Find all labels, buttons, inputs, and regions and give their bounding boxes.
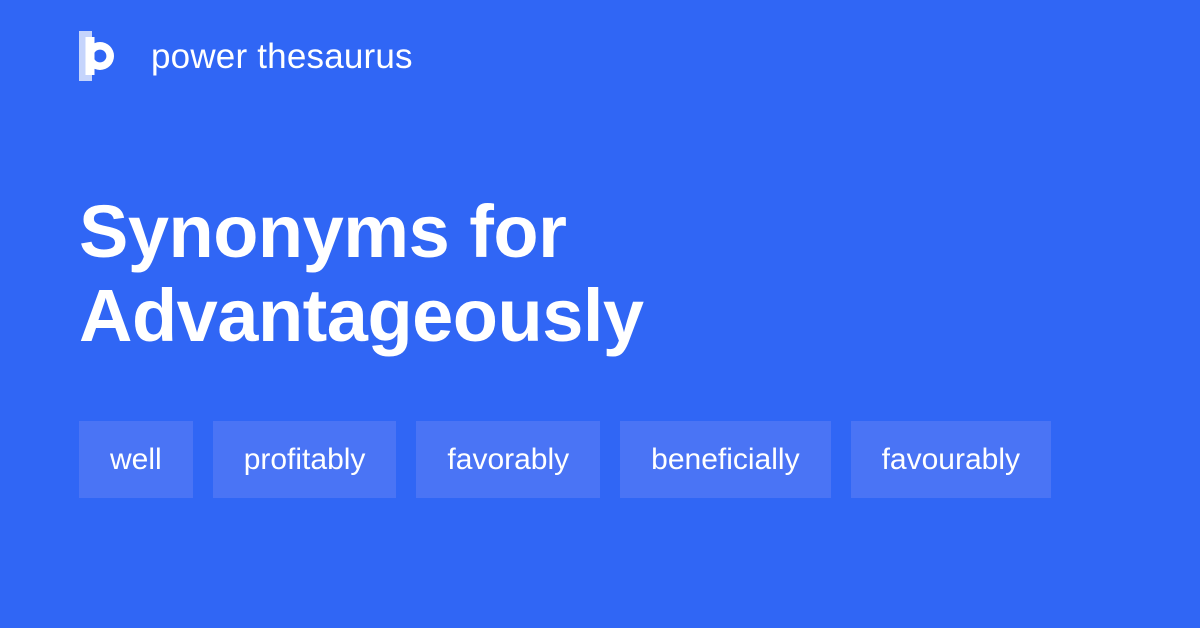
- synonym-chip[interactable]: favorably: [416, 421, 600, 498]
- synonym-chip[interactable]: profitably: [213, 421, 397, 498]
- synonym-chip[interactable]: favourably: [851, 421, 1051, 498]
- page-title-line-2: Advantageously: [79, 274, 1119, 358]
- synonym-chip[interactable]: beneficially: [620, 421, 830, 498]
- power-thesaurus-b-logo-icon: [79, 31, 125, 81]
- page-title-line-1: Synonyms for: [79, 190, 1119, 274]
- synonym-chip[interactable]: well: [79, 421, 193, 498]
- synonym-list: well profitably favorably beneficially f…: [79, 421, 1119, 498]
- brand-name: power thesaurus: [151, 39, 413, 74]
- page-title: Synonyms for Advantageously: [79, 190, 1119, 359]
- share-card: power thesaurus Synonyms for Advantageou…: [0, 0, 1200, 628]
- brand-header[interactable]: power thesaurus: [79, 28, 413, 84]
